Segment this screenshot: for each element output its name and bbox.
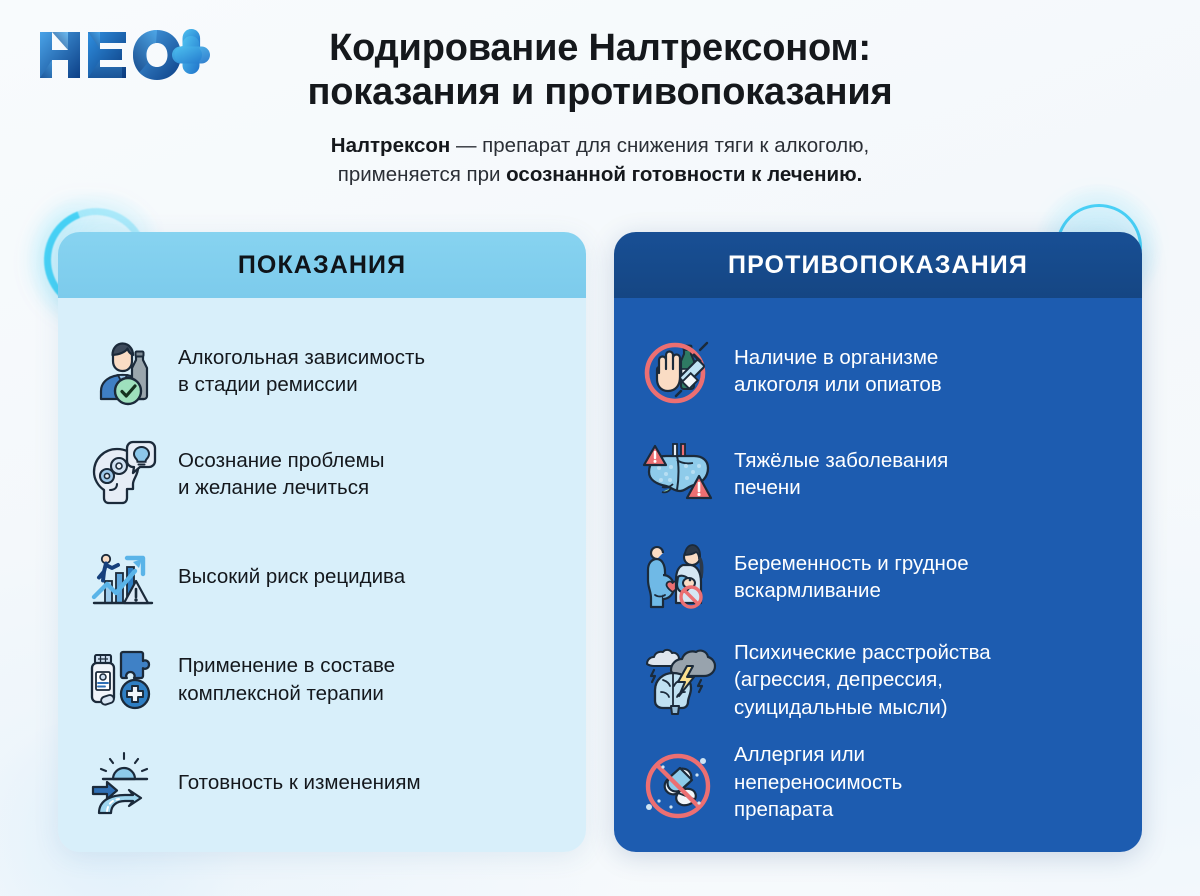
sunrise-road-arrow-icon bbox=[84, 744, 162, 822]
contraindications-card: ПРОТИВОПОКАЗАНИЯ bbox=[614, 232, 1142, 852]
list-item-line: Алкогольная зависимость bbox=[178, 344, 425, 371]
list-item-text: Аллергия или непереносимость препарата bbox=[734, 741, 902, 823]
person-bottle-check-icon bbox=[84, 332, 162, 410]
page-subtitle: Налтрексон — препарат для снижения тяги … bbox=[0, 131, 1200, 189]
list-item-line: печени bbox=[734, 474, 948, 501]
subtitle-line-1-rest: — препарат для снижения тяги к алкоголю, bbox=[450, 134, 869, 157]
list-item-line: Применение в составе bbox=[178, 652, 395, 679]
list-item[interactable]: Готовность к изменениям bbox=[84, 731, 560, 834]
list-item-text: Беременность и грудное вскармливание bbox=[734, 550, 969, 605]
list-item-text: Алкогольная зависимость в стадии ремисси… bbox=[178, 344, 425, 399]
list-item-line: вскармливание bbox=[734, 577, 969, 604]
list-item-line: и желание лечиться bbox=[178, 474, 385, 501]
list-item-line: Беременность и грудное bbox=[734, 550, 969, 577]
list-item-line: непереносимость bbox=[734, 769, 902, 796]
list-item-text: Наличие в организме алкоголя или опиатов bbox=[734, 344, 942, 399]
list-item-line: препарата bbox=[734, 796, 902, 823]
list-item-line: (агрессия, депрессия, bbox=[734, 666, 991, 693]
list-item-text: Психические расстройства (агрессия, депр… bbox=[734, 639, 991, 721]
title-line-1: Кодирование Налтрексоном: bbox=[180, 26, 1020, 70]
list-item[interactable]: Психические расстройства (агрессия, депр… bbox=[640, 628, 1116, 731]
list-item-text: Применение в составе комплексной терапии bbox=[178, 652, 395, 707]
brain-storm-cloud-icon bbox=[640, 641, 718, 719]
contraindications-card-title: ПРОТИВОПОКАЗАНИЯ bbox=[614, 232, 1142, 298]
subtitle-drug-name: Налтрексон bbox=[331, 134, 451, 157]
pregnancy-breastfeeding-icon bbox=[640, 538, 718, 616]
list-item-text: Осознание проблемы и желание лечиться bbox=[178, 447, 385, 502]
list-item-line: Аллергия или bbox=[734, 741, 902, 768]
subtitle-line-1: Налтрексон — препарат для снижения тяги … bbox=[0, 131, 1200, 160]
neo-plus-logo[interactable] bbox=[38, 24, 210, 86]
no-pills-allergy-icon bbox=[640, 744, 718, 822]
list-item[interactable]: Тяжёлые заболевания печени bbox=[640, 423, 1116, 526]
list-item[interactable]: Осознание проблемы и желание лечиться bbox=[84, 423, 560, 526]
list-item[interactable]: Применение в составе комплексной терапии bbox=[84, 628, 560, 731]
list-item-line: комплексной терапии bbox=[178, 680, 395, 707]
list-item-line: в стадии ремиссии bbox=[178, 371, 425, 398]
list-item-line: Психические расстройства bbox=[734, 639, 991, 666]
page-header: Кодирование Налтрексоном: показания и пр… bbox=[0, 0, 1200, 189]
list-item-text: Высокий риск рецидива bbox=[178, 563, 405, 590]
rising-chart-warning-icon bbox=[84, 538, 162, 616]
list-item-line: Высокий риск рецидива bbox=[178, 563, 405, 590]
indications-card-body: Алкогольная зависимость в стадии ремисси… bbox=[58, 298, 586, 852]
cards-row: ПОКАЗАНИЯ bbox=[0, 232, 1200, 852]
subtitle-emphasis: осознанной готовности к лечению. bbox=[506, 163, 862, 186]
stop-hand-bottle-syringe-icon bbox=[640, 332, 718, 410]
liver-warning-icon bbox=[640, 435, 718, 513]
subtitle-line-2-rest: применяется при bbox=[338, 163, 506, 186]
list-item-line: суицидальные мысли) bbox=[734, 694, 991, 721]
list-item-line: алкоголя или опиатов bbox=[734, 371, 942, 398]
list-item[interactable]: Высокий риск рецидива bbox=[84, 526, 560, 629]
list-item-text: Готовность к изменениям bbox=[178, 769, 421, 796]
infographic-page: Кодирование Налтрексоном: показания и пр… bbox=[0, 0, 1200, 896]
indications-card-title: ПОКАЗАНИЯ bbox=[58, 232, 586, 298]
list-item[interactable]: Наличие в организме алкоголя или опиатов bbox=[640, 320, 1116, 423]
indications-card: ПОКАЗАНИЯ bbox=[58, 232, 586, 852]
list-item[interactable]: Беременность и грудное вскармливание bbox=[640, 526, 1116, 629]
title-line-2: показания и противопоказания bbox=[180, 70, 1020, 114]
list-item-line: Тяжёлые заболевания bbox=[734, 447, 948, 474]
subtitle-line-2: применяется при осознанной готовности к … bbox=[0, 160, 1200, 189]
list-item-line: Готовность к изменениям bbox=[178, 769, 421, 796]
head-gears-lightbulb-icon bbox=[84, 435, 162, 513]
list-item-line: Наличие в организме bbox=[734, 344, 942, 371]
list-item[interactable]: Алкогольная зависимость в стадии ремисси… bbox=[84, 320, 560, 423]
list-item[interactable]: Аллергия или непереносимость препарата bbox=[640, 731, 1116, 834]
contraindications-card-body: Наличие в организме алкоголя или опиатов bbox=[614, 298, 1142, 852]
list-item-text: Тяжёлые заболевания печени bbox=[734, 447, 948, 502]
list-item-line: Осознание проблемы bbox=[178, 447, 385, 474]
pill-bottle-puzzle-plus-icon bbox=[84, 641, 162, 719]
